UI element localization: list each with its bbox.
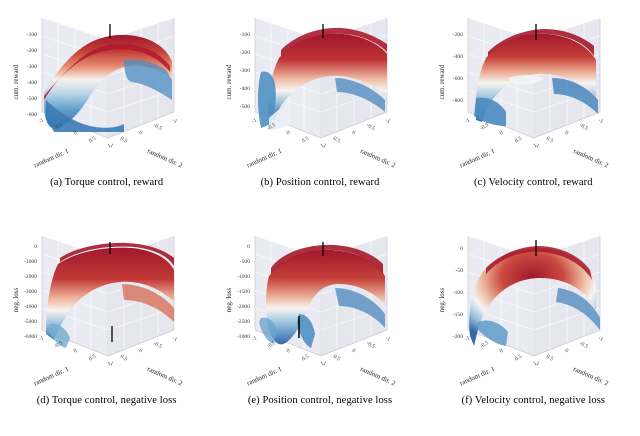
plot-b: -100 -200 -300 -400 -500 cum. reward -1 … [217, 0, 423, 175]
x-axis-title-d: random dir. 1 [32, 365, 70, 388]
y-axis-title-a: random dir. 2 [146, 147, 184, 170]
y-axis-title-e: random dir. 2 [359, 365, 397, 388]
svg-text:-2000: -2000 [237, 304, 250, 310]
surface-plot-c: -200 -400 -600 -800 cum. reward -1 -0.5 … [430, 0, 636, 175]
z-ticks-b: -100 -200 -300 -400 -500 [240, 32, 250, 110]
svg-text:-800: -800 [453, 98, 463, 104]
svg-text:0: 0 [564, 130, 570, 137]
svg-text:-500: -500 [240, 104, 250, 110]
svg-text:0.5: 0.5 [301, 136, 310, 145]
svg-text:0: 0 [499, 130, 505, 137]
caption-d: (d) Torque control, negative loss [37, 395, 177, 406]
z-axis-title-b: cum. reward [225, 64, 233, 99]
z-axis-title-c: cum. reward [438, 64, 446, 99]
svg-text:0: 0 [72, 348, 78, 355]
svg-text:0.5: 0.5 [301, 354, 310, 363]
panel-c: -200 -400 -600 -800 cum. reward -1 -0.5 … [427, 0, 640, 218]
svg-text:-400: -400 [240, 86, 250, 92]
surface-plot-f: 0 -50 -100 -150 -200 neg. loss -1 -0.5 0… [430, 218, 636, 393]
svg-text:0: 0 [351, 348, 357, 355]
z-ticks-d: 0 -1000 -2000 -3000 -4000 -5000 -6000 [24, 244, 37, 340]
svg-text:-100: -100 [453, 290, 463, 296]
z-axis-title-e: neg. loss [225, 287, 233, 312]
svg-text:-1: -1 [171, 117, 178, 125]
svg-text:0: 0 [137, 348, 143, 355]
svg-text:-0.5: -0.5 [578, 340, 589, 350]
svg-text:-0.5: -0.5 [152, 340, 163, 350]
svg-text:-3000: -3000 [237, 334, 250, 340]
svg-text:-1000: -1000 [24, 259, 37, 265]
svg-text:0: 0 [499, 348, 505, 355]
plot-d: 0 -1000 -2000 -3000 -4000 -5000 -6000 ne… [4, 218, 210, 393]
svg-text:-1: -1 [38, 335, 45, 343]
x-axis-title-a: random dir. 1 [32, 147, 70, 170]
x-axis-title-e: random dir. 1 [245, 365, 283, 388]
svg-text:-1000: -1000 [237, 274, 250, 280]
svg-text:0: 0 [286, 130, 292, 137]
svg-text:-50: -50 [456, 268, 464, 274]
svg-text:-300: -300 [26, 64, 36, 70]
svg-text:-100: -100 [26, 32, 36, 38]
svg-text:-1: -1 [464, 335, 471, 343]
svg-text:-1: -1 [171, 335, 178, 343]
panel-b: -100 -200 -300 -400 -500 cum. reward -1 … [213, 0, 426, 218]
x-axis-title-f: random dir. 1 [459, 365, 497, 388]
caption-f: (f) Velocity control, negative loss [462, 395, 606, 406]
svg-text:-500: -500 [26, 96, 36, 102]
svg-text:0.5: 0.5 [514, 136, 523, 145]
svg-text:-300: -300 [240, 68, 250, 74]
svg-text:-400: -400 [26, 80, 36, 86]
svg-text:-1: -1 [384, 117, 391, 125]
svg-text:0.5: 0.5 [332, 354, 341, 363]
panel-d: 0 -1000 -2000 -3000 -4000 -5000 -6000 ne… [0, 218, 213, 436]
y-axis-title-c: random dir. 2 [572, 147, 610, 170]
svg-text:0.5: 0.5 [88, 354, 97, 363]
plot-a: -100 -200 -300 -400 -500 -600 cum. rewar… [4, 0, 210, 175]
svg-text:-3000: -3000 [24, 289, 37, 295]
panel-a: -100 -200 -300 -400 -500 -600 cum. rewar… [0, 0, 213, 218]
svg-text:-1: -1 [384, 335, 391, 343]
panel-e: 0 -500 -1000 -1500 -2000 -2500 -3000 neg… [213, 218, 426, 436]
svg-text:-200: -200 [240, 50, 250, 56]
z-ticks-c: -200 -400 -600 -800 [453, 32, 463, 104]
svg-text:-1: -1 [251, 335, 258, 343]
svg-text:0.5: 0.5 [545, 354, 554, 363]
z-ticks-f: 0 -50 -100 -150 -200 [453, 246, 463, 340]
svg-text:-200: -200 [453, 334, 463, 340]
svg-text:-0.5: -0.5 [578, 122, 589, 132]
svg-text:-100: -100 [240, 32, 250, 38]
svg-text:-1500: -1500 [237, 289, 250, 295]
y-axis-title-b: random dir. 2 [359, 147, 397, 170]
figure-grid: -100 -200 -300 -400 -500 -600 cum. rewar… [0, 0, 640, 436]
svg-text:-600: -600 [26, 112, 36, 118]
z-axis-title-f: neg. loss [438, 287, 446, 312]
plot-f: 0 -50 -100 -150 -200 neg. loss -1 -0.5 0… [430, 218, 636, 393]
caption-c: (c) Velocity control, reward [474, 177, 593, 188]
svg-text:0.5: 0.5 [514, 354, 523, 363]
surface-plot-b: -100 -200 -300 -400 -500 cum. reward -1 … [217, 0, 423, 175]
svg-text:-1: -1 [251, 117, 258, 125]
svg-text:0.5: 0.5 [88, 136, 97, 145]
svg-text:-600: -600 [453, 76, 463, 82]
svg-text:-2000: -2000 [24, 274, 37, 280]
svg-text:-6000: -6000 [24, 334, 37, 340]
caption-b: (b) Position control, reward [261, 177, 380, 188]
svg-text:-1: -1 [597, 117, 604, 125]
y-axis-title-d: random dir. 2 [146, 365, 184, 388]
svg-text:0: 0 [247, 244, 250, 250]
svg-text:-0.5: -0.5 [365, 122, 376, 132]
svg-text:-1: -1 [597, 335, 604, 343]
caption-e: (e) Position control, negative loss [248, 395, 392, 406]
svg-text:-0.5: -0.5 [152, 122, 163, 132]
svg-text:0.5: 0.5 [332, 136, 341, 145]
plot-c: -200 -400 -600 -800 cum. reward -1 -0.5 … [430, 0, 636, 175]
y-axis-title-f: random dir. 2 [572, 365, 610, 388]
svg-text:-0.5: -0.5 [479, 340, 490, 350]
plot-e: 0 -500 -1000 -1500 -2000 -2500 -3000 neg… [217, 218, 423, 393]
panel-f: 0 -50 -100 -150 -200 neg. loss -1 -0.5 0… [427, 218, 640, 436]
svg-text:-0.5: -0.5 [479, 122, 490, 132]
z-ticks-a: -100 -200 -300 -400 -500 -600 [26, 32, 36, 118]
caption-a: (a) Torque control, reward [50, 177, 163, 188]
z-axis-title-d: neg. loss [12, 287, 20, 312]
surface-plot-d: 0 -1000 -2000 -3000 -4000 -5000 -6000 ne… [4, 218, 210, 393]
svg-text:0.5: 0.5 [119, 354, 128, 363]
svg-text:-1: -1 [38, 117, 45, 125]
z-axis-title-a: cum. reward [12, 64, 20, 99]
svg-text:-5000: -5000 [24, 319, 37, 325]
svg-text:-500: -500 [240, 259, 250, 265]
svg-text:-150: -150 [453, 312, 463, 318]
x-axis-title-b: random dir. 1 [245, 147, 283, 170]
svg-text:-4000: -4000 [24, 304, 37, 310]
svg-text:0: 0 [286, 348, 292, 355]
z-ticks-e: 0 -500 -1000 -1500 -2000 -2500 -3000 [237, 244, 250, 340]
svg-text:0.5: 0.5 [545, 136, 554, 145]
svg-text:0: 0 [351, 130, 357, 137]
svg-text:-0.5: -0.5 [365, 340, 376, 350]
svg-text:-200: -200 [453, 32, 463, 38]
surface-plot-e: 0 -500 -1000 -1500 -2000 -2500 -3000 neg… [217, 218, 423, 393]
svg-text:0: 0 [34, 244, 37, 250]
svg-text:0: 0 [564, 348, 570, 355]
svg-text:-200: -200 [26, 48, 36, 54]
svg-text:-1: -1 [464, 117, 471, 125]
svg-text:0: 0 [461, 246, 464, 252]
svg-text:-400: -400 [453, 54, 463, 60]
svg-text:0: 0 [137, 130, 143, 137]
surface-plot-a: -100 -200 -300 -400 -500 -600 cum. rewar… [4, 0, 210, 175]
svg-text:0.5: 0.5 [119, 136, 128, 145]
svg-text:-2500: -2500 [237, 319, 250, 325]
x-axis-title-c: random dir. 1 [459, 147, 497, 170]
